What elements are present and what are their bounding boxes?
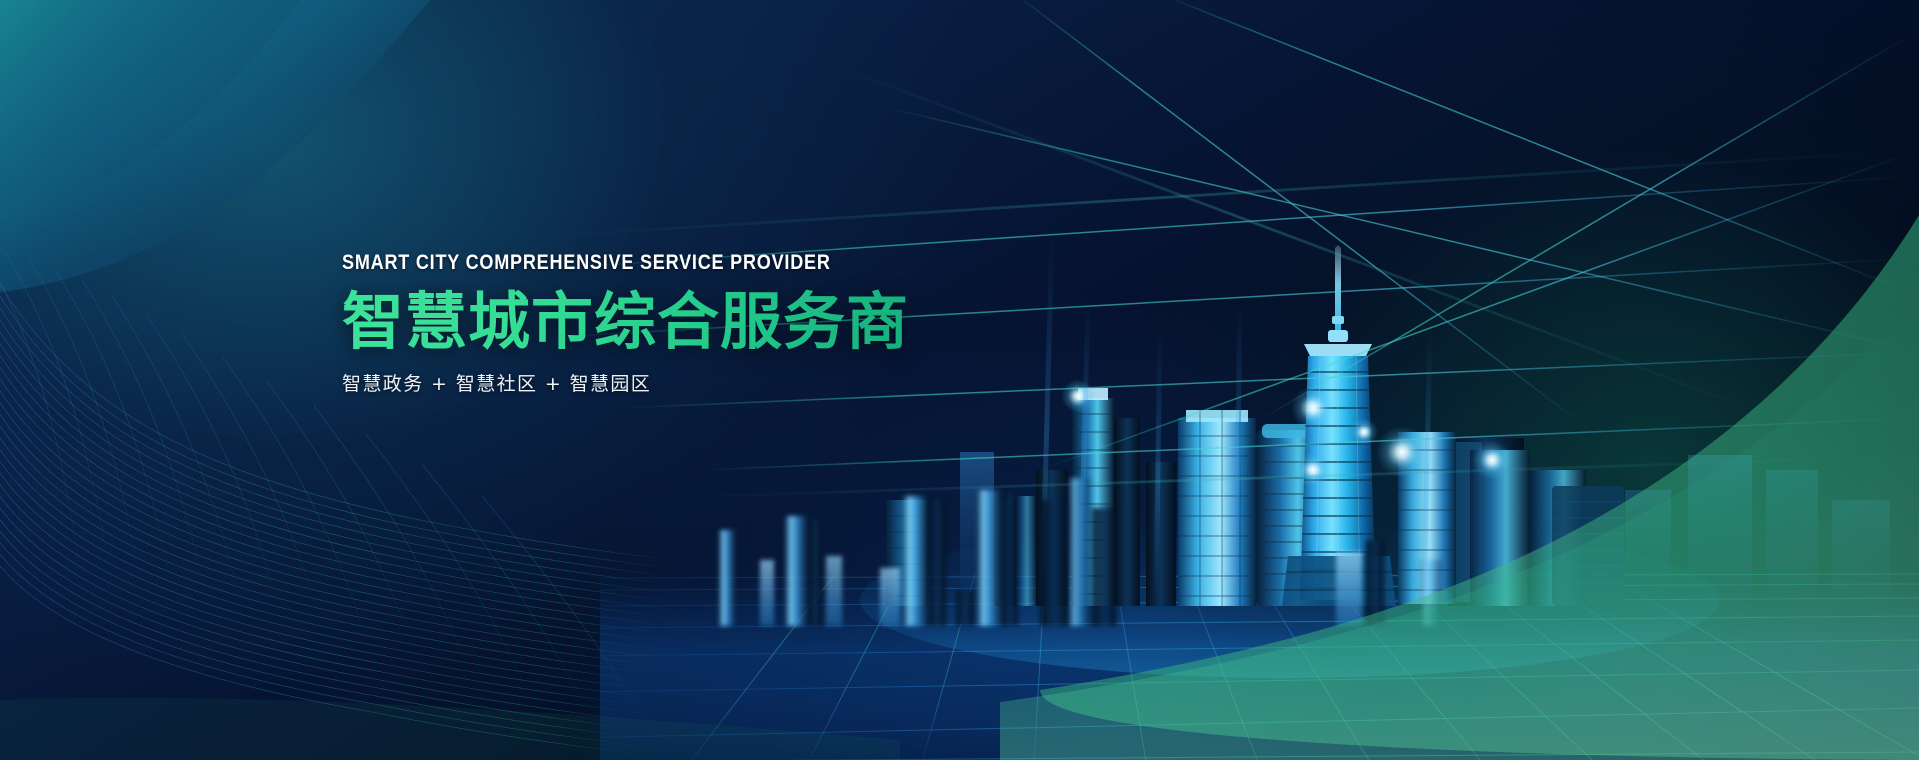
hero-banner: SMART CITY COMPREHENSIVE SERVICE PROVIDE… [0,0,1919,760]
tagline-text: 智慧政务 + 智慧社区 + 智慧园区 [342,369,962,396]
eyebrow-text: SMART CITY COMPREHENSIVE SERVICE PROVIDE… [342,252,875,273]
page-title: 智慧城市综合服务商 [342,289,962,355]
hero-copy-block: SMART CITY COMPREHENSIVE SERVICE PROVIDE… [342,252,962,396]
